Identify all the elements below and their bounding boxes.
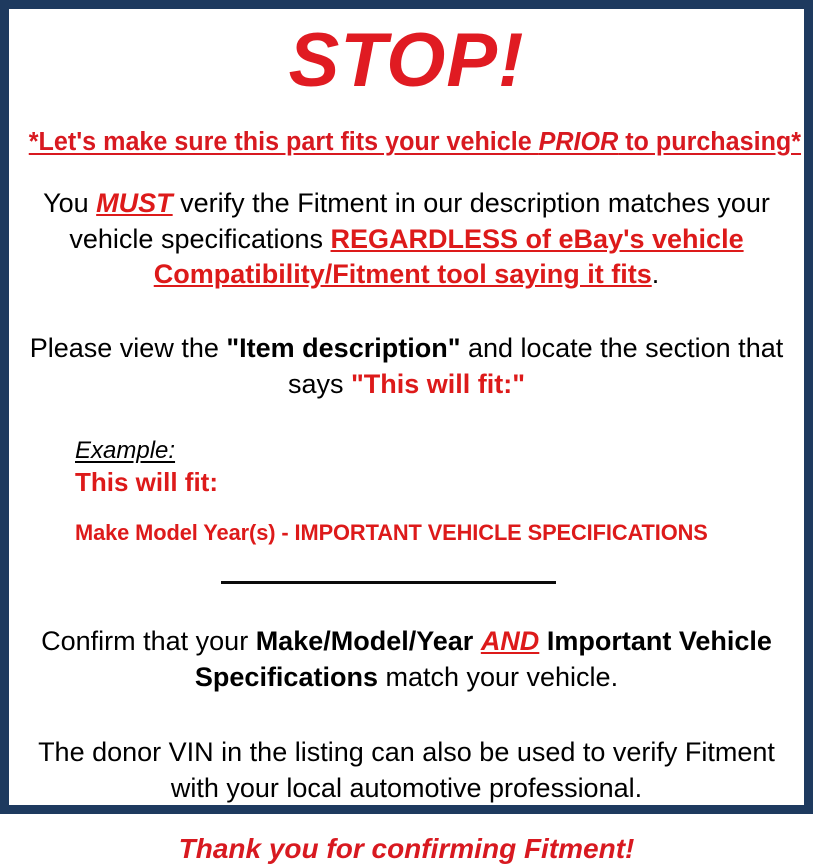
emphasis-make-model-year: Make/Model/Year bbox=[256, 626, 474, 656]
example-label-row: Example: bbox=[75, 438, 790, 464]
example-spec-line: Make Model Year(s) - IMPORTANT VEHICLE S… bbox=[75, 521, 769, 546]
confirm-text-2 bbox=[473, 626, 481, 656]
example-fit-header: This will fit: bbox=[75, 468, 790, 498]
must-text-3: . bbox=[652, 259, 660, 289]
example-block: Example: This will fit: Make Model Year(… bbox=[23, 438, 790, 546]
thank-you-line: Thank you for confirming Fitment! bbox=[23, 833, 790, 865]
example-label: Example: bbox=[75, 438, 175, 464]
subtitle-emphasis-prior: PRIOR bbox=[539, 128, 619, 156]
paragraph-item-description: Please view the "Item description" and l… bbox=[23, 331, 790, 402]
horizontal-divider bbox=[221, 581, 556, 584]
must-text-1: You bbox=[43, 188, 96, 218]
fitment-notice-card: STOP! *Let's make sure this part fits yo… bbox=[0, 0, 813, 814]
emphasis-item-description: "Item description" bbox=[226, 333, 460, 363]
confirm-text-1: Confirm that your bbox=[41, 626, 256, 656]
subtitle-text-before: *Let's make sure this part fits your veh… bbox=[29, 128, 539, 156]
divider-wrapper bbox=[23, 574, 790, 592]
emphasis-this-will-fit: "This will fit:" bbox=[351, 369, 525, 399]
confirm-text-3 bbox=[539, 626, 547, 656]
confirm-text-4: match your vehicle. bbox=[378, 662, 618, 692]
subtitle-banner: *Let's make sure this part fits your veh… bbox=[29, 128, 784, 156]
please-text-1: Please view the bbox=[30, 333, 227, 363]
page-title: STOP! bbox=[23, 23, 790, 99]
paragraph-donor-vin: The donor VIN in the listing can also be… bbox=[23, 735, 790, 806]
paragraph-confirm-match: Confirm that your Make/Model/Year AND Im… bbox=[23, 624, 790, 695]
paragraph-must-verify: You MUST verify the Fitment in our descr… bbox=[23, 186, 790, 293]
subtitle-text-after: to purchasing* bbox=[618, 128, 801, 156]
emphasis-and: AND bbox=[481, 626, 540, 656]
emphasis-must: MUST bbox=[96, 188, 173, 218]
